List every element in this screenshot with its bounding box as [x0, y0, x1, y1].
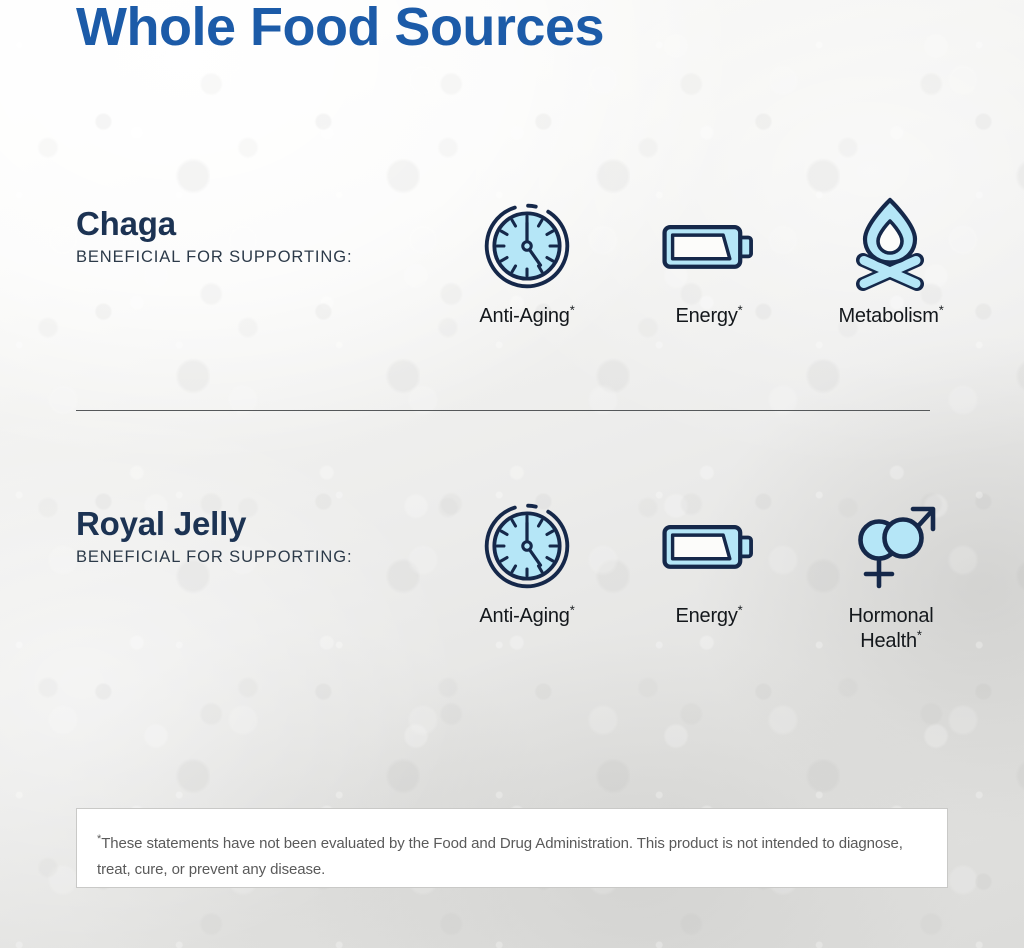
disclaimer-body: These statements have not been evaluated… [97, 835, 903, 878]
disclaimer-box: *These statements have not been evaluate… [76, 808, 948, 888]
benefit-list: Anti-Aging* Energy* [436, 496, 982, 654]
benefit-item-energy: Energy* [618, 496, 800, 654]
benefit-item-metabolism: Metabolism* [800, 196, 982, 329]
benefit-list: Anti-Aging* Energy* [436, 196, 982, 329]
gender-symbols-icon [839, 496, 943, 596]
source-block-chaga: Chaga BENEFICIAL FOR SUPPORTING: [76, 196, 948, 329]
battery-icon [657, 496, 761, 596]
source-heading-group: Chaga BENEFICIAL FOR SUPPORTING: [76, 196, 436, 267]
footnote-marker: * [570, 302, 575, 317]
clock-icon [479, 496, 575, 596]
benefit-label-line1: Hormonal [848, 605, 933, 627]
benefit-label-line2: Health [860, 630, 917, 652]
benefit-label-text: Energy [675, 605, 737, 627]
footnote-marker: * [917, 627, 922, 642]
source-name: Chaga [76, 206, 436, 242]
benefit-label-text: Energy [675, 305, 737, 327]
source-heading-group: Royal Jelly BENEFICIAL FOR SUPPORTING: [76, 496, 436, 567]
benefit-label-text: Anti-Aging [479, 305, 569, 327]
benefit-label: Energy* [675, 604, 742, 629]
benefit-label: Anti-Aging* [479, 604, 574, 629]
whole-food-sources-panel: Whole Food Sources Chaga BENEFICIAL FOR … [0, 0, 1024, 948]
benefit-label: Metabolism* [838, 304, 943, 329]
footnote-marker: * [738, 302, 743, 317]
page-title: Whole Food Sources [76, 0, 604, 58]
source-name: Royal Jelly [76, 506, 436, 542]
battery-icon [657, 196, 761, 296]
footnote-marker: * [738, 602, 743, 617]
benefit-item-energy: Energy* [618, 196, 800, 329]
footnote-marker: * [570, 602, 575, 617]
footnote-marker: * [939, 302, 944, 317]
benefit-item-anti-aging: Anti-Aging* [436, 196, 618, 329]
section-divider [76, 410, 930, 411]
source-subtitle: BENEFICIAL FOR SUPPORTING: [76, 548, 436, 567]
source-subtitle: BENEFICIAL FOR SUPPORTING: [76, 248, 436, 267]
benefit-item-anti-aging: Anti-Aging* [436, 496, 618, 654]
benefit-label-text: Anti-Aging [479, 605, 569, 627]
benefit-label: HormonalHealth* [848, 604, 933, 654]
campfire-icon [839, 196, 943, 296]
benefit-label-text: Metabolism [838, 305, 938, 327]
benefit-label: Anti-Aging* [479, 304, 574, 329]
disclaimer-text: *These statements have not been evaluate… [97, 831, 925, 884]
clock-icon [479, 196, 575, 296]
benefit-item-hormonal-health: HormonalHealth* [800, 496, 982, 654]
source-block-royal-jelly: Royal Jelly BENEFICIAL FOR SUPPORTING: [76, 496, 948, 654]
benefit-label: Energy* [675, 304, 742, 329]
